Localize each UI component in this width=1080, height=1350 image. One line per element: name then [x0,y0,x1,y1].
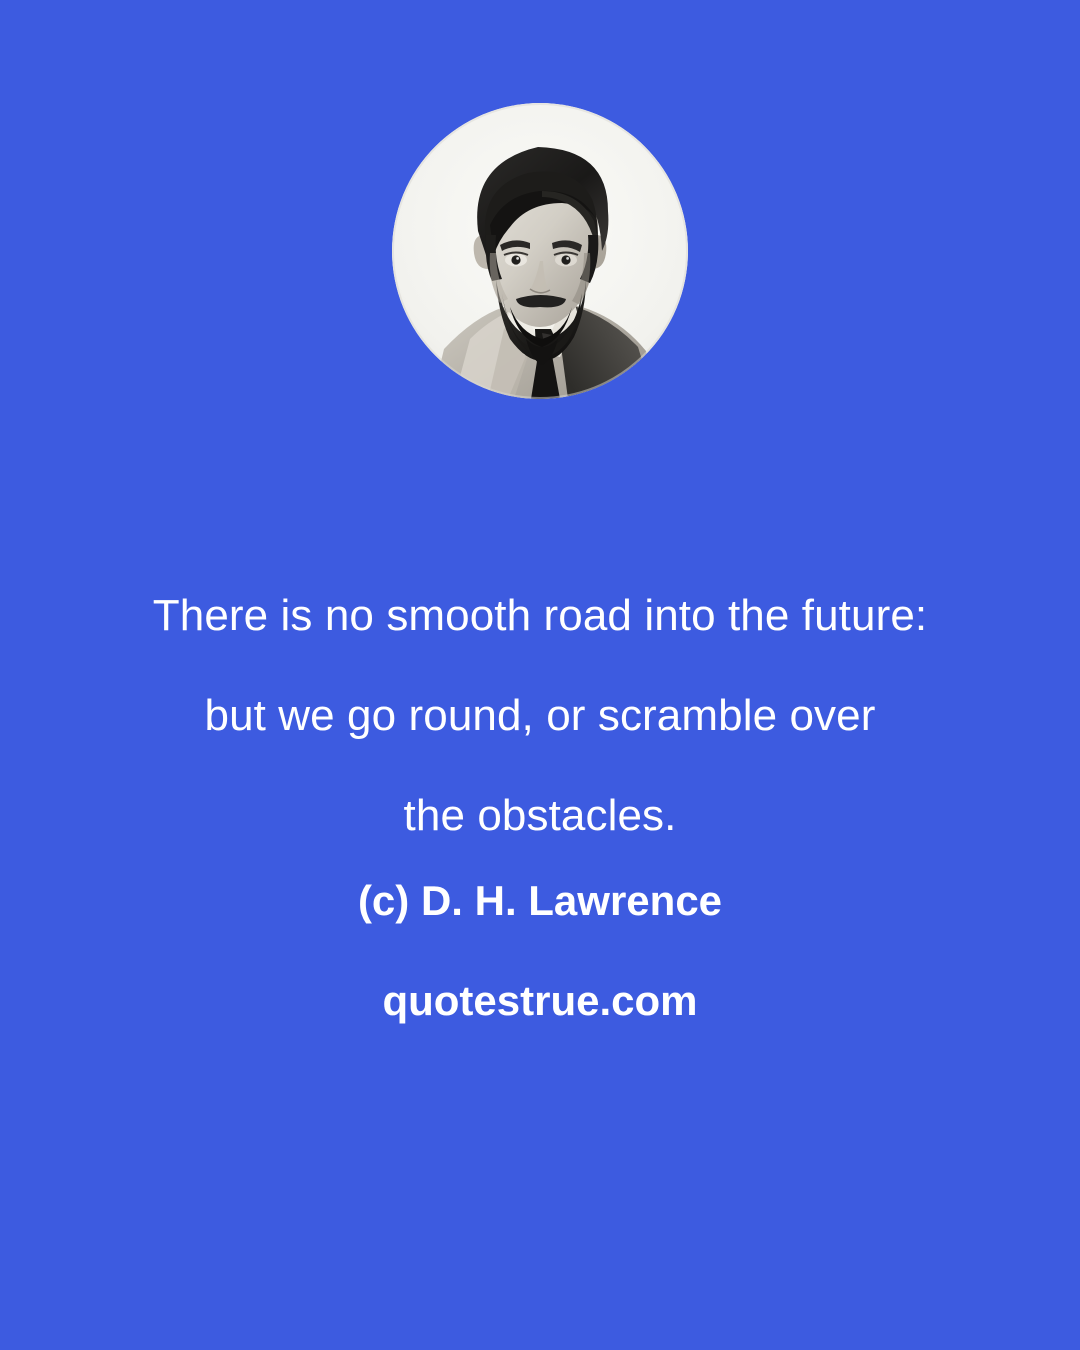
quote-line-1: There is no smooth road into the future: [0,566,1080,666]
quote-attribution: (c) D. H. Lawrence [0,874,1080,928]
portrait-avatar [392,103,688,399]
quote-text: There is no smooth road into the future:… [0,566,1080,866]
quote-card: There is no smooth road into the future:… [0,0,1080,1350]
site-watermark: quotestrue.com [0,974,1080,1028]
quote-line-2: but we go round, or scramble over [0,666,1080,766]
portrait-photo [392,103,688,399]
quote-line-3: the obstacles. [0,766,1080,866]
